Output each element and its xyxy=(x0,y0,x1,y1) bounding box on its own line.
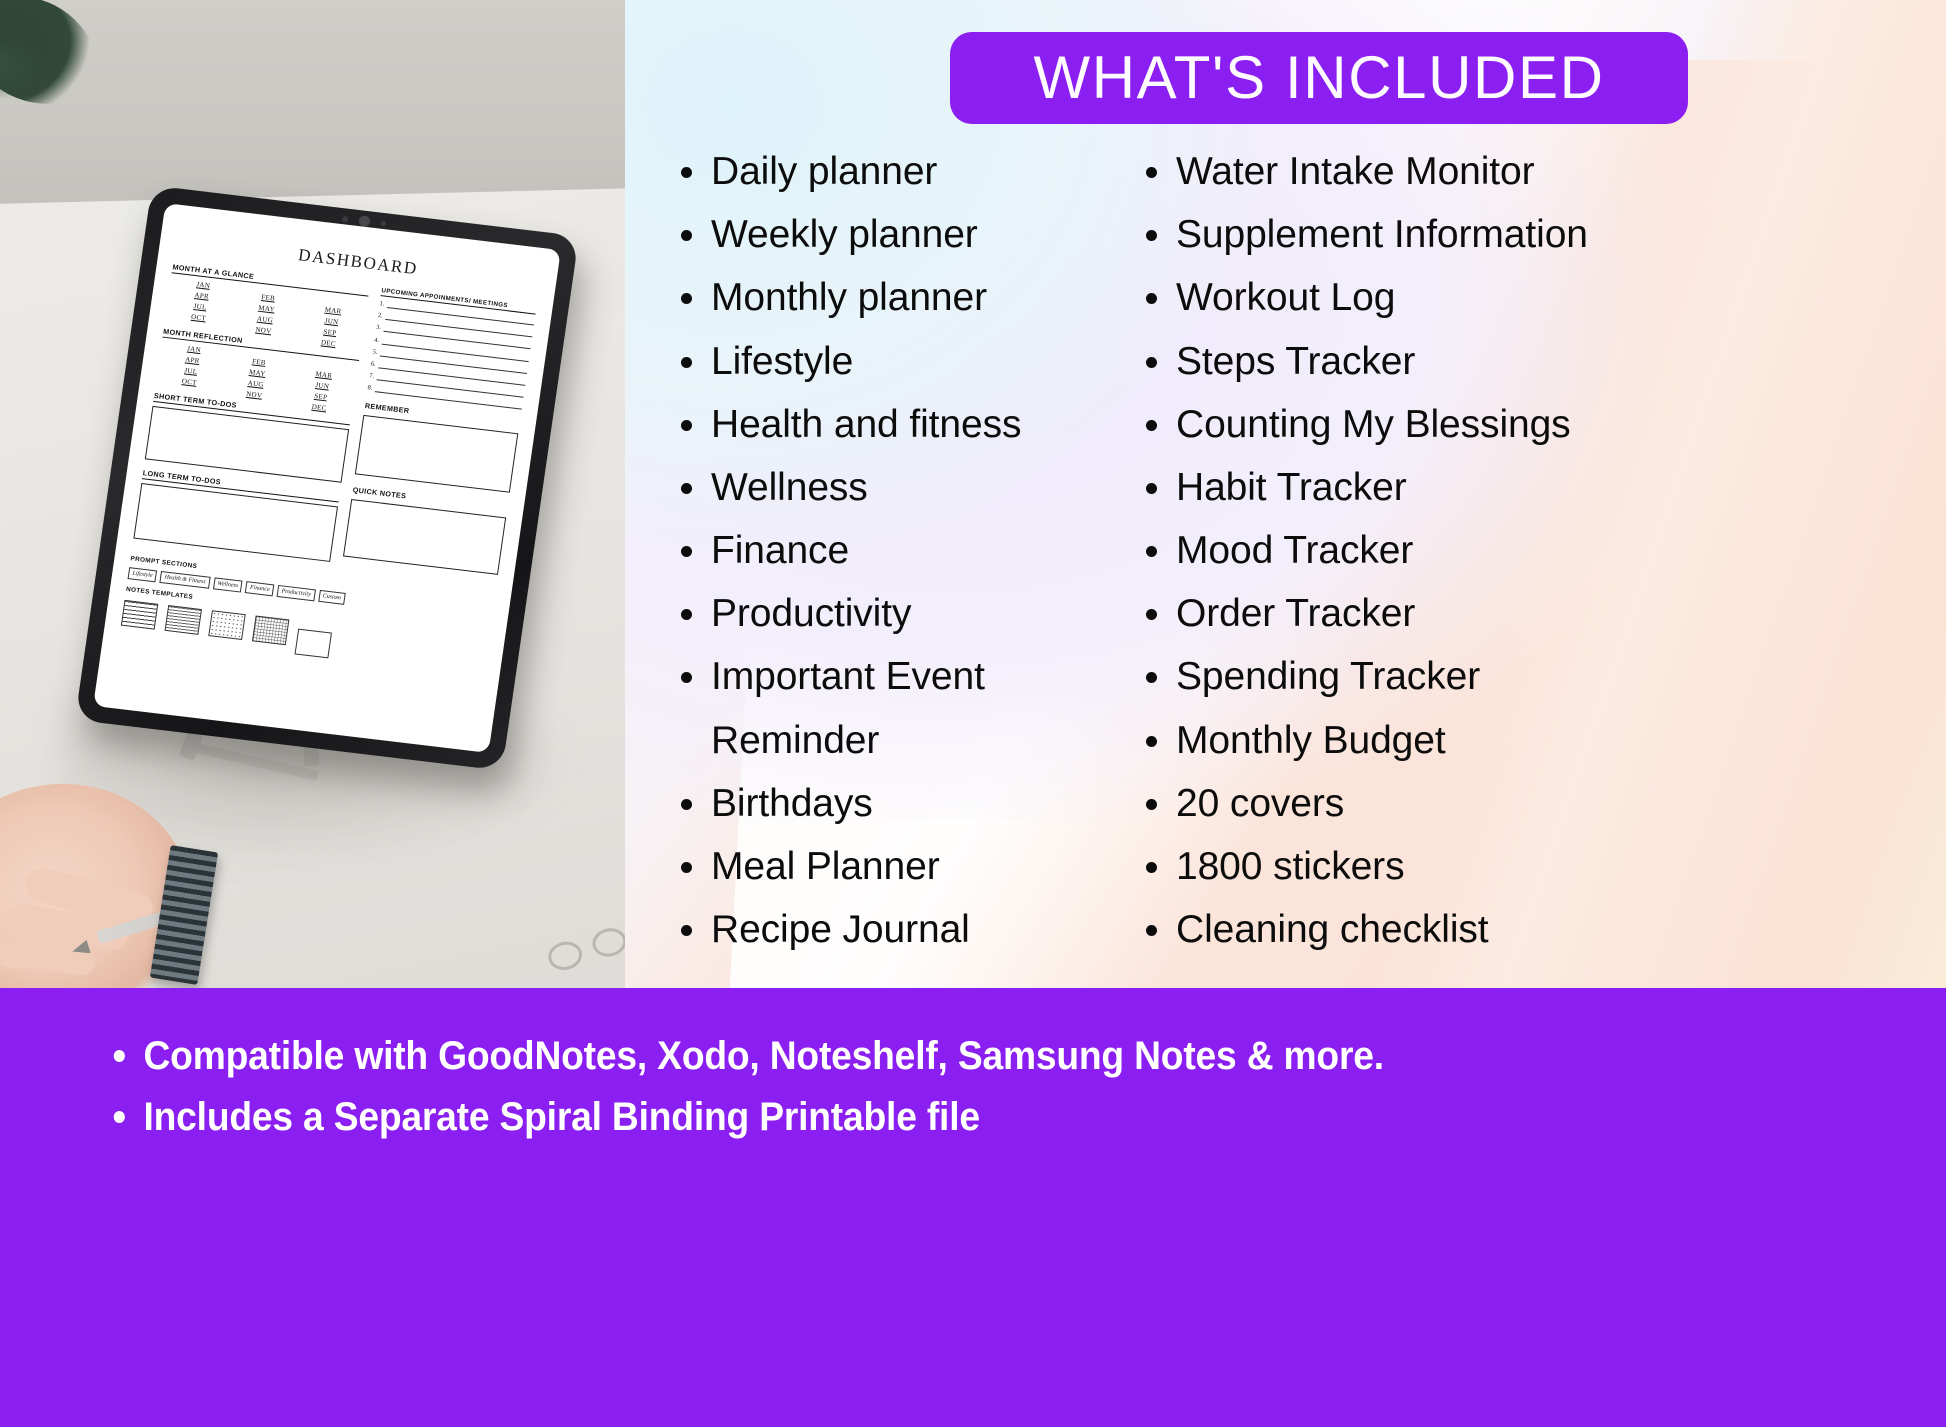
list-item: Steps Tracker xyxy=(1140,330,1900,393)
template-dotted-icon xyxy=(208,610,245,640)
list-item: Monthly Budget xyxy=(1140,709,1900,772)
whats-included-title: WHAT'S INCLUDED xyxy=(1033,48,1604,108)
tablet-device: DASHBOARD MONTH AT A GLANCE JAN APR JUL … xyxy=(75,185,579,770)
dashboard-page: DASHBOARD MONTH AT A GLANCE JAN APR JUL … xyxy=(93,203,561,753)
list-item: Compatible with GoodNotes, Xodo, Noteshe… xyxy=(110,1026,1817,1087)
list-item: Lifestyle xyxy=(675,330,1125,393)
list-item: Order Tracker xyxy=(1140,582,1900,645)
list-item: Productivity xyxy=(675,582,1125,645)
product-photo: DASHBOARD MONTH AT A GLANCE JAN APR JUL … xyxy=(0,0,625,988)
list-item: Weekly planner xyxy=(675,203,1125,266)
template-blank-icon xyxy=(295,629,332,659)
whats-included-badge: WHAT'S INCLUDED xyxy=(950,32,1688,124)
remember-box xyxy=(355,415,518,493)
list-item: Recipe Journal xyxy=(675,898,1125,961)
list-item: Habit Tracker xyxy=(1140,456,1900,519)
prompt-chip: Productivity xyxy=(277,585,316,601)
list-item: Health and fitness xyxy=(675,393,1125,456)
feature-column-right: Water Intake Monitor Supplement Informat… xyxy=(1140,140,1900,970)
prompt-chip: Finance xyxy=(245,581,274,596)
list-item: Counting My Blessings xyxy=(1140,393,1900,456)
list-item: Finance xyxy=(675,519,1125,582)
list-item: Daily planner xyxy=(675,140,1125,203)
prompt-chip: Wellness xyxy=(213,577,243,592)
feature-list-right: Water Intake Monitor Supplement Informat… xyxy=(1140,140,1900,961)
tablet-screen: DASHBOARD MONTH AT A GLANCE JAN APR JUL … xyxy=(93,203,561,753)
list-item: Workout Log xyxy=(1140,266,1900,329)
list-item: Supplement Information xyxy=(1140,203,1900,266)
list-item: Monthly planner xyxy=(675,266,1125,329)
list-item: Cleaning checklist xyxy=(1140,898,1900,961)
features-panel: WHAT'S INCLUDED Daily planner Weekly pla… xyxy=(625,0,1946,988)
list-item: Mood Tracker xyxy=(1140,519,1900,582)
list-item: 1800 stickers xyxy=(1140,835,1900,898)
prompt-chip: Health & Fitness xyxy=(160,571,211,589)
list-item: Wellness xyxy=(675,456,1125,519)
list-item: Important Event Reminder xyxy=(675,645,1005,771)
list-item: 20 covers xyxy=(1140,772,1900,835)
template-grid-icon xyxy=(252,615,289,645)
promo-graphic: DASHBOARD MONTH AT A GLANCE JAN APR JUL … xyxy=(0,0,1946,1427)
list-item: Spending Tracker xyxy=(1140,645,1900,708)
template-narrow-lined-icon xyxy=(165,605,202,635)
feature-list-left: Daily planner Weekly planner Monthly pla… xyxy=(675,140,1125,961)
feature-lists: Daily planner Weekly planner Monthly pla… xyxy=(625,140,1946,970)
prompt-chip: Lifestyle xyxy=(128,567,158,582)
prompt-chip: Custom xyxy=(318,590,346,605)
compatibility-list: Compatible with GoodNotes, Xodo, Noteshe… xyxy=(110,1026,1946,1148)
list-item: Water Intake Monitor xyxy=(1140,140,1900,203)
list-item: Meal Planner xyxy=(675,835,1125,898)
template-lined-icon xyxy=(121,600,158,630)
list-item: Includes a Separate Spiral Binding Print… xyxy=(110,1087,1817,1148)
feature-column-left: Daily planner Weekly planner Monthly pla… xyxy=(675,140,1125,970)
compatibility-banner: Compatible with GoodNotes, Xodo, Noteshe… xyxy=(0,988,1946,1427)
appointment-lines: 1. 2. 3. 4. 5. 6. 7. 8. xyxy=(367,300,535,410)
list-item: Birthdays xyxy=(675,772,1125,835)
